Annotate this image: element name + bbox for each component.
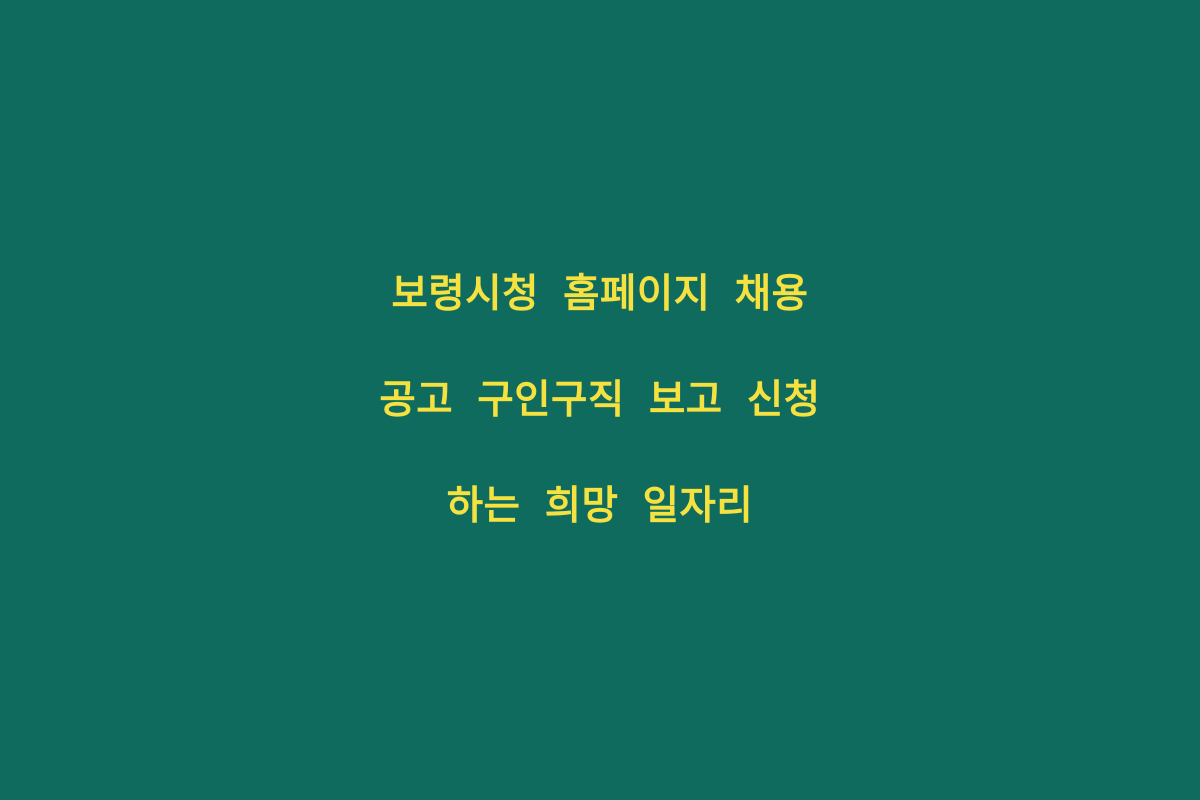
headline-line-2: 공고 구인구직 보고 신청: [70, 374, 1130, 427]
text-banner: 보령시청 홈페이지 채용 공고 구인구직 보고 신청 하는 희망 일자리: [0, 0, 1200, 800]
headline-line-3: 하는 희망 일자리: [70, 480, 1130, 533]
page-title: 보령시청 홈페이지 채용 공고 구인구직 보고 신청 하는 희망 일자리: [70, 215, 1130, 586]
headline-line-1: 보령시청 홈페이지 채용: [70, 268, 1130, 321]
